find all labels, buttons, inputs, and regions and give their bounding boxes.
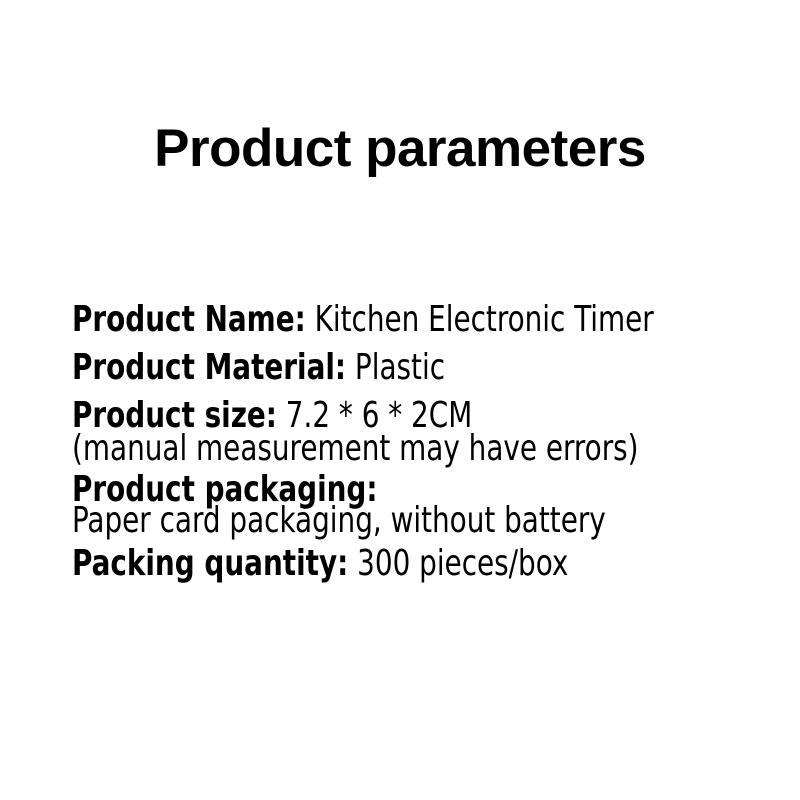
spec-value-packing-quantity: 300 pieces/box xyxy=(357,543,568,584)
spec-note-product-packaging: Paper card packaging, without battery xyxy=(72,500,606,541)
spec-row-product-material: Product Material: Plastic xyxy=(72,344,772,392)
spec-line: Paper card packaging, without battery xyxy=(72,502,606,540)
spec-line: Packing quantity: 300 pieces/box xyxy=(72,540,568,588)
spec-label-packing-quantity: Packing quantity: xyxy=(72,543,348,584)
product-parameters-page: Product parameters Product Name: Kitchen… xyxy=(0,0,800,800)
spec-separator xyxy=(348,543,357,584)
spec-list: Product Name: Kitchen Electronic Timer P… xyxy=(72,296,772,588)
spec-value-product-name xyxy=(306,299,315,340)
spec-value-product-name-text: Kitchen Electronic Timer xyxy=(315,299,654,340)
spec-label-product-name: Product Name: xyxy=(72,299,306,340)
spec-row-packing-quantity: Packing quantity: 300 pieces/box xyxy=(72,540,772,588)
spec-label-product-material: Product Material: xyxy=(72,347,346,388)
spec-line: Product Name: Kitchen Electronic Timer xyxy=(72,296,654,344)
spec-row-product-name: Product Name: Kitchen Electronic Timer xyxy=(72,296,772,344)
spec-line: (manual measurement may have errors) xyxy=(72,430,639,468)
page-title: Product parameters xyxy=(0,118,800,180)
spec-row-product-packaging-note: Paper card packaging, without battery xyxy=(72,502,772,540)
spec-note-product-size: (manual measurement may have errors) xyxy=(72,428,639,469)
spec-value-product-material: Plastic xyxy=(355,347,445,388)
spec-separator xyxy=(346,347,355,388)
spec-line: Product Material: Plastic xyxy=(72,344,445,392)
spec-row-product-size-note: (manual measurement may have errors) xyxy=(72,430,772,468)
